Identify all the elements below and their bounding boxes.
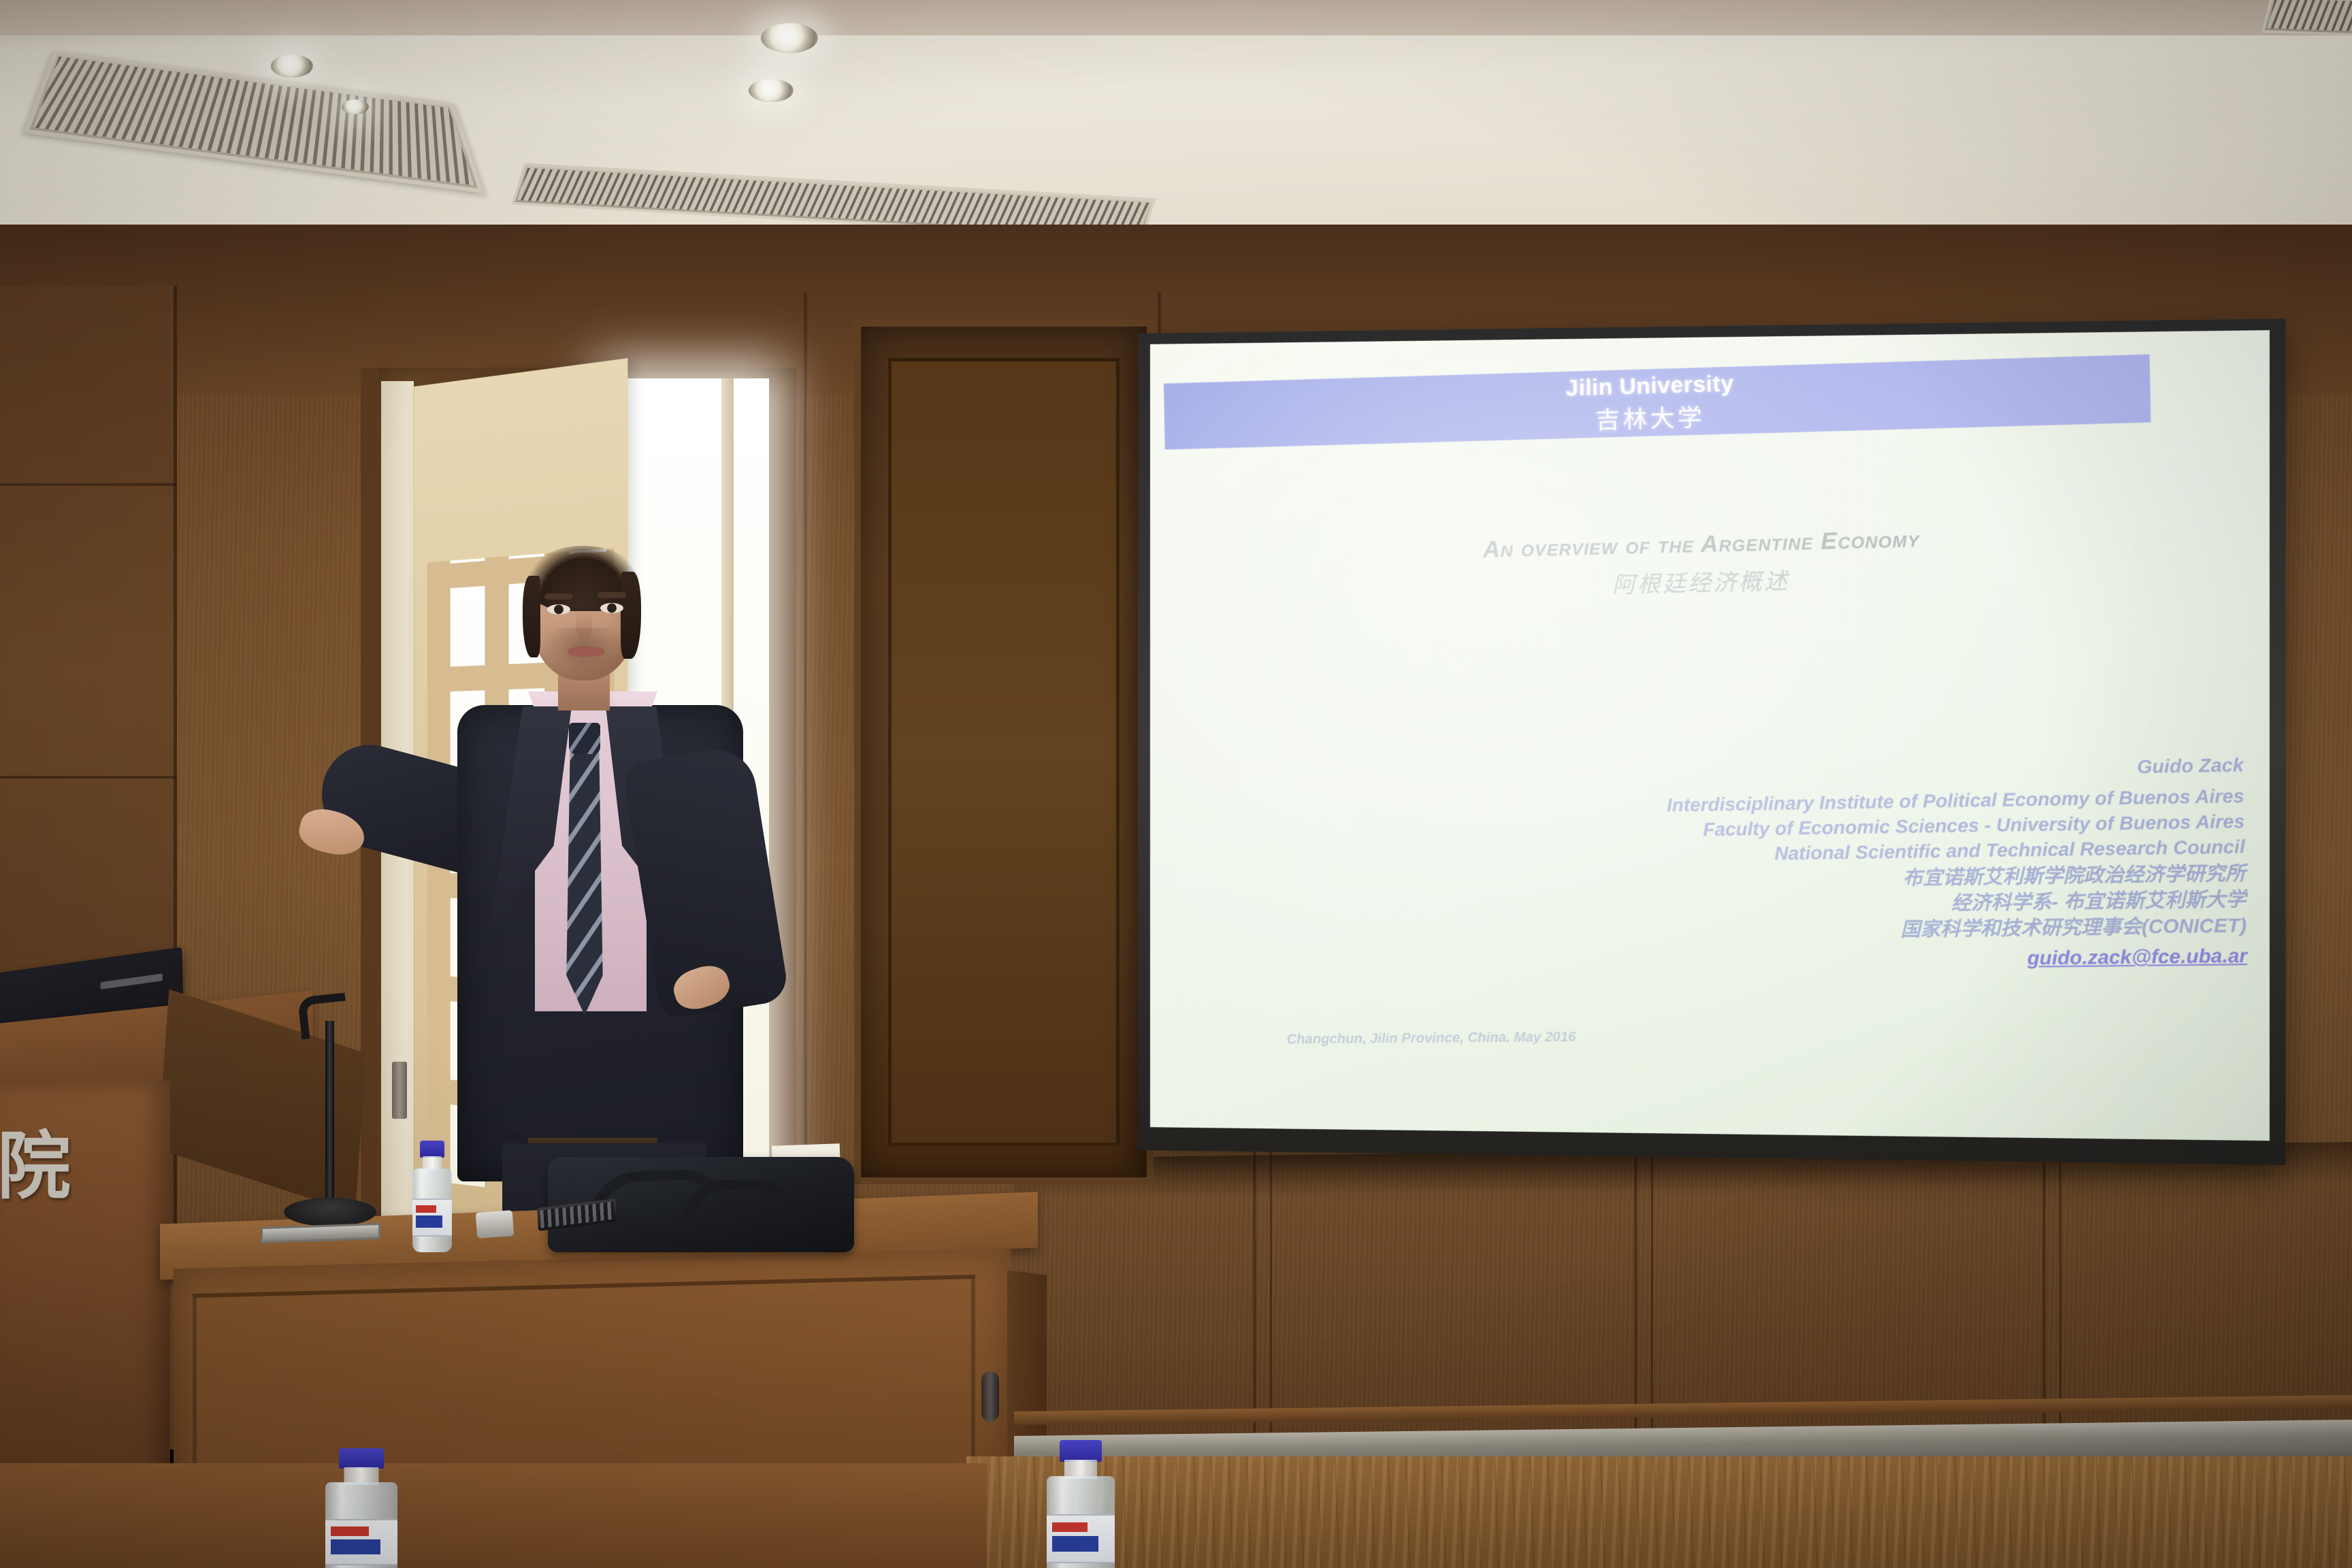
bottle-label: [412, 1198, 452, 1237]
cabinet-seam: [0, 483, 177, 486]
presenter-eye-left: [547, 604, 570, 615]
bottle-cap: [1060, 1440, 1102, 1462]
presenter-necktie: [565, 730, 604, 1015]
front-wooden-surface: [966, 1456, 2352, 1568]
water-bottle-on-table[interactable]: [412, 1141, 452, 1252]
bottle-label: [325, 1519, 397, 1565]
vent-slats: [2268, 0, 2352, 33]
laptop-brand-logo: [101, 973, 163, 989]
lecture-hall-photo: Jilin University 吉林大学 An overview of the…: [0, 0, 2352, 1568]
downlight-center-small-icon: [342, 99, 369, 114]
projection-screen-surface: Jilin University 吉林大学 An overview of the…: [1150, 330, 2270, 1141]
bottle-label-stripe-red: [416, 1205, 436, 1213]
cabinet-seam: [0, 776, 177, 779]
ac-vent-square-icon: [23, 50, 485, 193]
lectern-emblem-character: 院: [0, 1130, 86, 1218]
water-bottle-front-right[interactable]: [1047, 1440, 1115, 1568]
slide-title-block: An overview of the Argentine Economy 阿根廷…: [1150, 517, 2270, 610]
microphone-stem: [325, 1021, 334, 1206]
screen-glare: [1150, 330, 2270, 1141]
presenter-hair-side-left: [523, 576, 540, 657]
presenter-hair-side-right: [621, 572, 641, 659]
bottle-label: [1047, 1514, 1115, 1563]
bottle-cap: [339, 1448, 384, 1469]
presenter-eye-right: [600, 603, 623, 613]
author-email-link[interactable]: guido.zack@fce.uba.ar: [1410, 943, 2247, 978]
presenter-brow-left: [544, 593, 573, 600]
slide-header-band: Jilin University 吉林大学: [1164, 355, 2151, 450]
table-drawer-handle[interactable]: [981, 1371, 999, 1422]
bottle-label-stripe-blue: [331, 1539, 380, 1554]
projection-screen-frame: Jilin University 吉林大学 An overview of the…: [1138, 318, 2285, 1165]
presenter-nose: [576, 610, 592, 640]
downlight-left-icon: [271, 54, 313, 78]
water-bottle-front-left[interactable]: [325, 1448, 397, 1568]
bottle-label-stripe-blue: [416, 1215, 442, 1228]
bottle-cap: [420, 1141, 444, 1158]
presenter-mouth: [568, 647, 604, 657]
downlight-right-upper-icon: [761, 23, 818, 53]
bottle-label-stripe-red: [331, 1526, 368, 1536]
downlight-right-lower-icon: [749, 79, 794, 102]
panel-seam: [1633, 1150, 1638, 1436]
panel-groove: [1651, 1150, 1653, 1436]
bottle-label-stripe-blue: [1052, 1536, 1098, 1552]
closed-door-right[interactable]: [854, 320, 1154, 1184]
ac-vent-right-icon: [2261, 0, 2352, 37]
ceiling-upper-band: [0, 0, 2352, 35]
slide-footer-location: Changchun, Jilin Province, China. May 20…: [1287, 1028, 1775, 1048]
vent-slats: [33, 56, 474, 185]
front-wooden-surface-left: [0, 1463, 987, 1568]
panel-groove: [2059, 1150, 2061, 1436]
bottle-label-stripe-red: [1052, 1522, 1088, 1533]
slide-author-block: Guido Zack Interdisciplinary Institute o…: [1407, 753, 2247, 979]
small-white-object: [476, 1210, 514, 1239]
door-inner-panel: [888, 358, 1120, 1146]
panel-seam: [2042, 1150, 2046, 1436]
presenter-figure: [402, 551, 878, 1239]
presenter-tie-knot: [569, 723, 600, 754]
front-surface-grain: [966, 1456, 2352, 1568]
presenter-brow-right: [598, 592, 626, 598]
microphone-gooseneck: [297, 993, 349, 1040]
microphone-base[interactable]: [284, 1198, 376, 1226]
